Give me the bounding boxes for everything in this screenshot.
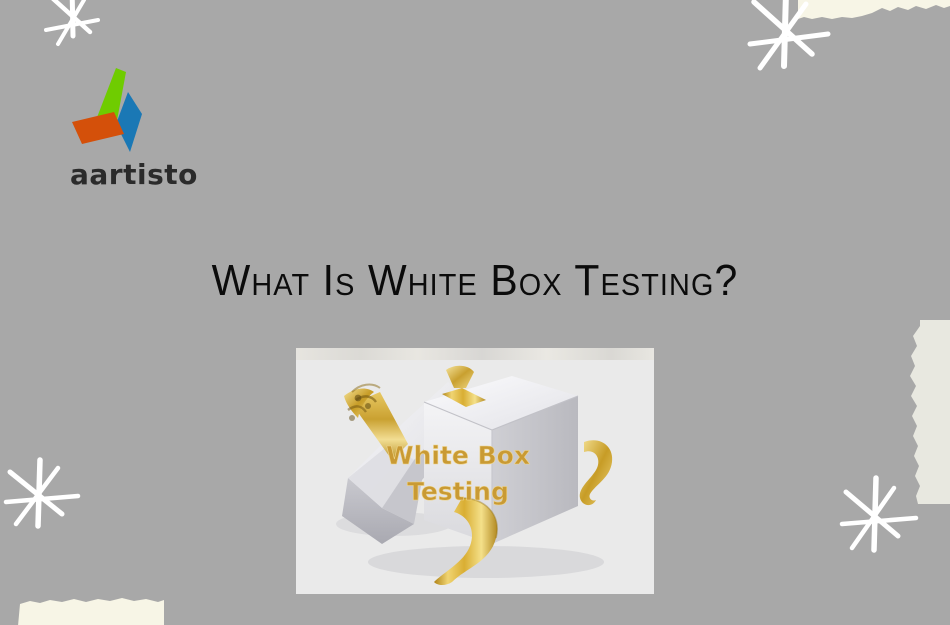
aartisto-triskelion-icon (70, 66, 180, 158)
brand-logo[interactable]: aartisto (70, 66, 270, 189)
box-label-line-2: Testing (407, 477, 509, 506)
white-box-testing-illustration: White Box Testing (296, 348, 654, 594)
starburst-bottom-right-icon (830, 470, 926, 566)
starburst-top-right-icon (736, 0, 836, 90)
starburst-bottom-left-icon (0, 452, 88, 544)
brand-wordmark: aartisto (70, 161, 270, 189)
figure-scan-band (296, 348, 654, 360)
box-label-line-1: White Box (386, 441, 530, 470)
torn-paper-bottom-left (16, 596, 164, 625)
featured-image: White Box Testing (296, 348, 654, 594)
page-title: What Is White Box Testing? (33, 257, 917, 305)
torn-paper-top-right (798, 0, 950, 24)
starburst-top-left-icon (28, 0, 116, 70)
torn-paper-right-edge (908, 320, 950, 504)
poster-canvas: aartisto What Is White Box Testing? (0, 0, 950, 625)
